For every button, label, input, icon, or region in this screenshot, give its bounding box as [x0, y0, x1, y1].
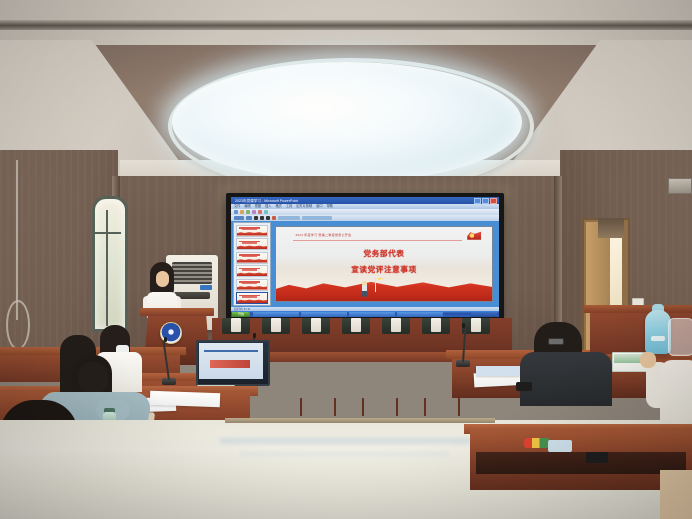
slide-title-line1: 党务部代表 [276, 248, 492, 259]
open-icon[interactable] [240, 210, 244, 214]
smartphone[interactable] [586, 452, 608, 463]
system-tray[interactable] [471, 312, 497, 317]
slide-divider [293, 240, 461, 241]
slide-eyebrow-text: 2023 年度学习 暨第二季度党务公开会 [295, 232, 351, 237]
ppt-titlebar: 2023年党课学习 - Microsoft PowerPoint [231, 197, 499, 204]
wall-vent-icon [668, 178, 692, 194]
chair-headrest-cover [431, 318, 441, 332]
print-icon[interactable] [252, 210, 256, 214]
slide-flag-icon [378, 278, 385, 282]
tissue-pack [548, 440, 572, 452]
microphone-head-icon [253, 333, 256, 338]
ceiling-track-strip [0, 20, 692, 30]
underline-icon[interactable] [266, 216, 270, 220]
document-sheet [150, 391, 220, 407]
ppt-title-text: 2023年党课学习 - Microsoft PowerPoint [235, 198, 298, 204]
ac-grille [172, 262, 212, 284]
taskbar-button[interactable] [349, 312, 395, 317]
ac-badge [200, 285, 212, 290]
water-dispenser-tap[interactable] [651, 336, 665, 341]
podium-top [140, 308, 214, 316]
document-sheet-blue [476, 366, 520, 376]
save-icon[interactable] [246, 210, 250, 214]
chair-headrest-cover [391, 318, 401, 332]
chair-leg [300, 398, 302, 416]
slide-thumbnail-panel[interactable] [233, 222, 271, 306]
slide-title-line2: 宣读党评注意事项 [276, 264, 492, 275]
window-mullion [106, 210, 108, 326]
slide-thumbnail[interactable] [236, 252, 268, 264]
slide-thumbnail[interactable] [236, 279, 268, 291]
attendee-right-edge-hand [640, 352, 656, 368]
floor-skirting [225, 418, 495, 423]
cut-icon[interactable] [258, 210, 262, 214]
curtain-cord [16, 160, 18, 320]
projection-screen[interactable]: 2023年党课学习 - Microsoft PowerPoint 文件 编辑 视… [231, 197, 499, 317]
slide-canvas[interactable]: 2023 年度学习 暨第二季度党务公开会 党务部代表 宣读党评注意事项 [275, 226, 493, 302]
circular-ceiling-light [172, 62, 522, 182]
slide-thumbnail-selected[interactable] [236, 292, 268, 304]
taskbar-button[interactable] [253, 312, 299, 317]
slide-red-silhouette [276, 276, 492, 301]
laptop-slide-title-bar [204, 350, 258, 352]
slide-thumbnail[interactable] [236, 225, 268, 237]
fontcolor-icon[interactable] [272, 216, 276, 220]
align-group-icon[interactable] [278, 216, 300, 220]
chair-headrest-cover [311, 318, 321, 332]
bold-icon[interactable] [254, 216, 258, 220]
chair-leg [396, 398, 398, 416]
italic-icon[interactable] [260, 216, 264, 220]
window-transom [93, 232, 121, 234]
smartphone[interactable] [516, 382, 532, 391]
chair-headrest-cover [231, 318, 241, 332]
new-icon[interactable] [234, 210, 238, 214]
fontsize-select-icon[interactable] [246, 216, 252, 220]
chair-leg [362, 398, 364, 416]
chair-headrest-cover [351, 318, 361, 332]
chair-leg [424, 398, 426, 416]
plastic-bag [668, 318, 692, 356]
current-slide: 2023 年度学习 暨第二季度党务公开会 党务部代表 宣读党评注意事项 [276, 227, 492, 301]
chair-headrest-cover [471, 318, 481, 332]
chair-headrest-cover [271, 318, 281, 332]
copy-icon[interactable] [264, 210, 268, 214]
font-select-icon[interactable] [234, 216, 244, 220]
conference-room-photo: 2023年党课学习 - Microsoft PowerPoint 文件 编辑 视… [0, 0, 692, 519]
slide-thumbnail[interactable] [236, 306, 268, 307]
list-group-icon[interactable] [302, 216, 332, 220]
candy-pack [524, 438, 550, 448]
attendee-right-body [520, 352, 612, 406]
side-cabinet-right-top [584, 305, 692, 313]
start-button[interactable]: 开始 [232, 312, 250, 317]
desk-front-right-shelf [476, 452, 686, 474]
taskbar-button[interactable] [397, 312, 443, 317]
slide-thumbnail[interactable] [236, 238, 268, 250]
slide-thumbnail[interactable] [236, 265, 268, 277]
attendee-right-edge-leg [660, 470, 692, 519]
door-transom [598, 218, 624, 238]
arched-window-left [92, 196, 128, 332]
chair-leg [458, 398, 460, 416]
attendee-blue-shirt-head [78, 362, 108, 394]
slide-figure-graphic [362, 281, 367, 297]
taskbar-button[interactable] [301, 312, 347, 317]
floor-reflection [220, 438, 470, 444]
glasses-icon [548, 338, 564, 345]
curtain-cord-loop [6, 300, 30, 350]
microphone-head-icon [164, 337, 167, 342]
start-label: 开始 [232, 312, 250, 317]
chair-leg [334, 398, 336, 416]
party-emblem-icon [467, 231, 481, 240]
slide-flagpole [375, 277, 376, 292]
os-taskbar[interactable]: 开始 [231, 311, 499, 317]
presenter-face [156, 271, 169, 287]
floor-reflection [240, 452, 450, 456]
laptop-slide-red-graphic [210, 360, 250, 368]
microphone-head-icon [462, 323, 465, 328]
